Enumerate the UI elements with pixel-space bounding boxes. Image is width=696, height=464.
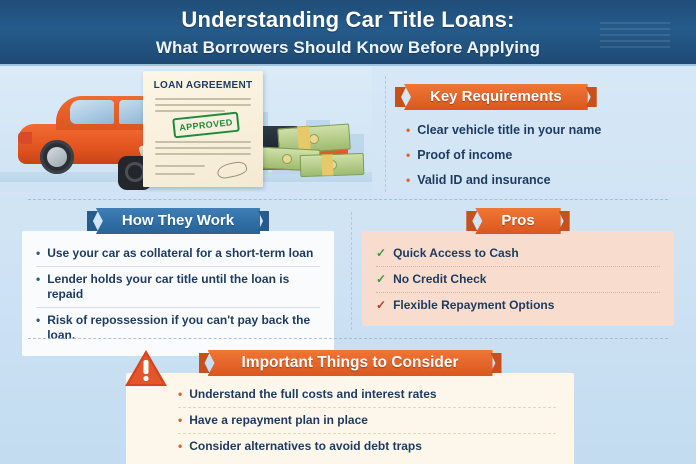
- list-item: • Consider alternatives to avoid debt tr…: [178, 434, 556, 459]
- divider-horizontal-lower: [28, 338, 668, 339]
- key-ring: [125, 162, 145, 182]
- list-item-label: Valid ID and insurance: [417, 173, 550, 188]
- approved-stamp-text: APPROVED: [179, 117, 233, 133]
- page-header: Understanding Car Title Loans: What Borr…: [0, 0, 696, 66]
- important-things-list: • Understand the full costs and interest…: [178, 382, 556, 459]
- key-requirements-heading: Key Requirements: [404, 84, 588, 110]
- bullet-icon: •: [178, 439, 182, 454]
- divider-vertical-top: [385, 76, 386, 192]
- section-how-they-work: How They Work • Use your car as collater…: [22, 208, 334, 356]
- list-item: ✓ Flexible Repayment Options: [376, 293, 660, 318]
- list-item-label: Have a repayment plan in place: [189, 413, 368, 428]
- list-item: • Risk of repossession if you can't pay …: [36, 308, 320, 348]
- bullet-icon: •: [406, 123, 410, 138]
- bullet-icon: •: [178, 387, 182, 402]
- bullet-icon: •: [36, 272, 40, 287]
- document-title: LOAN AGREEMENT: [143, 80, 263, 91]
- list-item: ✓ No Credit Check: [376, 267, 660, 292]
- list-item: • Clear vehicle title in your name: [406, 118, 686, 143]
- important-things-panel: • Understand the full costs and interest…: [126, 373, 574, 464]
- list-item: • Proof of income: [406, 143, 686, 168]
- section-important-things: Important Things to Consider • Understan…: [126, 350, 574, 464]
- list-item-label: Proof of income: [417, 148, 512, 163]
- pros-panel: ✓ Quick Access to Cash ✓ No Credit Check…: [362, 231, 674, 326]
- page-title: Understanding Car Title Loans:: [0, 9, 696, 31]
- list-item: • Valid ID and insurance: [406, 168, 686, 193]
- approved-stamp: APPROVED: [172, 112, 240, 139]
- check-icon: ✓: [376, 272, 386, 287]
- bullet-icon: •: [406, 173, 410, 188]
- list-item-label: Use your car as collateral for a short-t…: [47, 246, 313, 261]
- divider-vertical-middle: [351, 212, 352, 330]
- car-taillight: [18, 132, 32, 144]
- list-item: • Lender holds your car title until the …: [36, 267, 320, 307]
- bullet-icon: •: [178, 413, 182, 428]
- divider-horizontal-upper: [28, 199, 668, 200]
- car-wheel: [40, 140, 74, 174]
- banknote-band: [322, 154, 334, 176]
- bullet-icon: •: [36, 246, 40, 261]
- car-window-front: [70, 100, 114, 124]
- section-key-requirements: Key Requirements • Clear vehicle title i…: [396, 84, 686, 193]
- important-things-heading: Important Things to Consider: [208, 350, 493, 376]
- check-icon: ✓: [376, 246, 386, 261]
- how-they-work-list: • Use your car as collateral for a short…: [36, 241, 320, 348]
- bullet-icon: •: [406, 148, 410, 163]
- list-item: ✓ Quick Access to Cash: [376, 241, 660, 266]
- list-item-label: Consider alternatives to avoid debt trap…: [189, 439, 422, 454]
- header-watermark: [600, 22, 670, 52]
- pros-heading: Pros: [475, 208, 560, 234]
- list-item: • Have a repayment plan in place: [178, 408, 556, 433]
- infographic-page: Understanding Car Title Loans: What Borr…: [0, 0, 696, 464]
- hero-illustration: LOAN AGREEMENT APPROVED: [0, 66, 372, 192]
- bullet-icon: •: [36, 313, 40, 328]
- list-item-label: Clear vehicle title in your name: [417, 123, 601, 138]
- loan-agreement-document: LOAN AGREEMENT APPROVED: [143, 71, 263, 187]
- key-requirements-list: • Clear vehicle title in your name • Pro…: [396, 118, 686, 193]
- page-subtitle: What Borrowers Should Know Before Applyi…: [0, 39, 696, 56]
- list-item-label: Understand the full costs and interest r…: [189, 387, 436, 402]
- money-stack-illustration: [254, 120, 366, 176]
- section-pros: Pros ✓ Quick Access to Cash ✓ No Credit …: [362, 208, 674, 326]
- warning-triangle-icon: [124, 348, 168, 388]
- list-item: • Understand the full costs and interest…: [178, 382, 556, 407]
- signature-mark: [216, 160, 248, 180]
- list-item: • Use your car as collateral for a short…: [36, 241, 320, 266]
- list-item-label: Flexible Repayment Options: [393, 298, 554, 313]
- list-item-label: Quick Access to Cash: [393, 246, 519, 261]
- pros-list: ✓ Quick Access to Cash ✓ No Credit Check…: [376, 241, 660, 318]
- how-they-work-heading: How They Work: [96, 208, 260, 234]
- check-icon: ✓: [376, 298, 386, 313]
- list-item-label: Lender holds your car title until the lo…: [47, 272, 320, 302]
- list-item-label: No Credit Check: [393, 272, 486, 287]
